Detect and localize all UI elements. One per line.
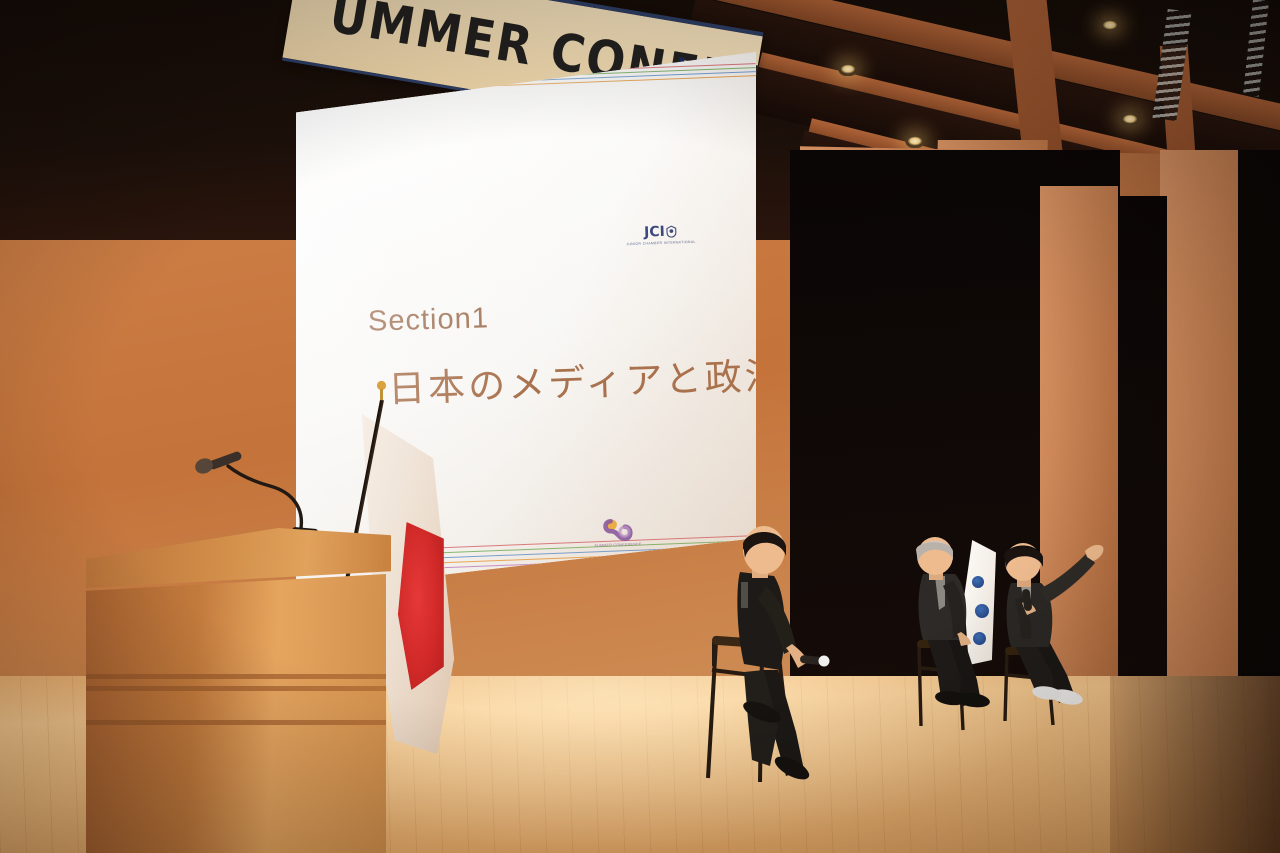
- younger-panelist-figure-icon: [995, 545, 1115, 725]
- moderator-figure-icon: [700, 520, 860, 800]
- podium-body: [86, 574, 386, 853]
- spotlight: [907, 136, 923, 146]
- podium-trim: [86, 720, 386, 725]
- stage-backdrop-right: [1115, 196, 1167, 696]
- spotlight: [1102, 20, 1118, 30]
- microphone-icon: [182, 446, 312, 538]
- wall-recess: [1238, 150, 1280, 695]
- spotlight: [1122, 114, 1138, 124]
- spotlight: [840, 64, 856, 74]
- flag-finial-icon: [374, 380, 389, 402]
- ceiling-louver: [1243, 0, 1269, 97]
- person-moderator: [700, 520, 860, 800]
- podium-trim: [86, 686, 386, 691]
- podium: [86, 528, 391, 853]
- podium-trim: [86, 674, 386, 679]
- stage-photo-scene: UMMER CONFERENCE 2017 JCI: [0, 0, 1280, 853]
- floor-shadow-right: [1110, 676, 1280, 853]
- person-panelist-younger: [995, 545, 1115, 725]
